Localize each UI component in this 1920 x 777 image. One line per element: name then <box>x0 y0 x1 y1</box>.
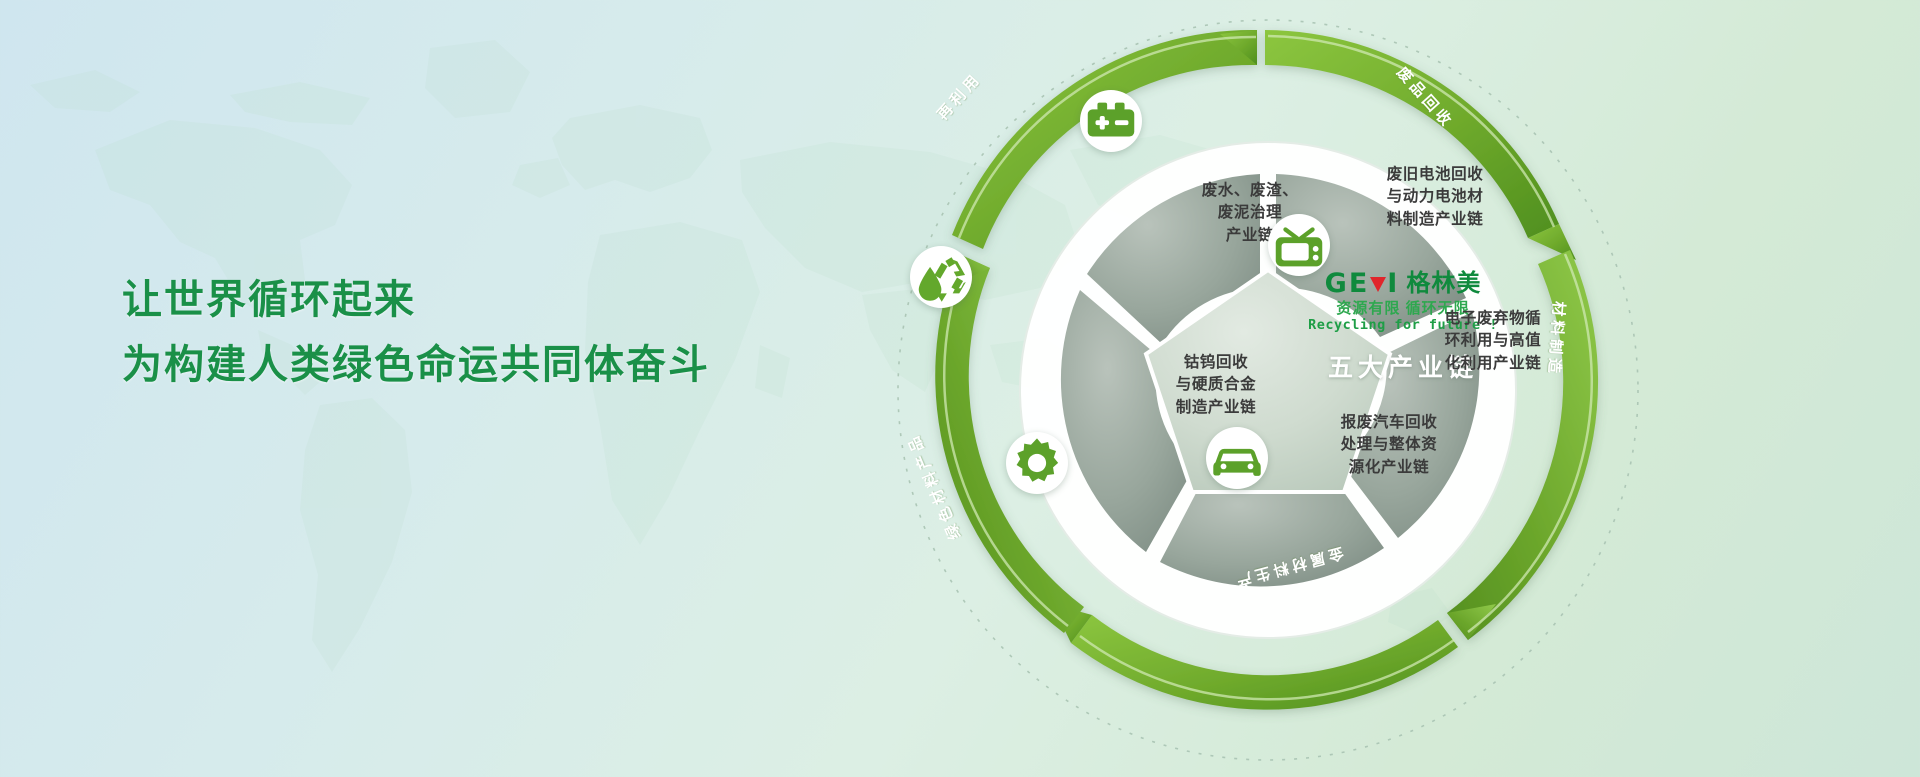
segment-label-cobalt-tungsten: 钴钨回收 与硬质合金 制造产业链 <box>1126 352 1306 419</box>
segment-line: 制造产业链 <box>1126 397 1306 419</box>
segment-line: 源化产业链 <box>1294 457 1484 479</box>
segment-line: 与动力电池材 <box>1340 186 1530 208</box>
hero-headline: 让世界循环起来 为构建人类绿色命运共同体奋斗 <box>122 268 902 398</box>
headline-line-2: 为构建人类绿色命运共同体奋斗 <box>122 333 902 398</box>
segment-line: 料制造产业链 <box>1340 209 1530 231</box>
bubble-television[interactable] <box>1268 214 1330 276</box>
gem-chinese-name: 格林美 <box>1406 272 1481 296</box>
gem-letters-text: GE <box>1325 270 1370 297</box>
red-triangle-icon <box>1370 277 1386 292</box>
segment-label-battery: 废旧电池回收 与动力电池材 料制造产业链 <box>1340 164 1530 231</box>
recycle-drop-icon <box>910 246 972 308</box>
bubble-car[interactable] <box>1206 427 1268 489</box>
segment-line: 报废汽车回收 <box>1294 412 1484 434</box>
bubble-gear[interactable] <box>1006 432 1068 494</box>
bubble-recycle-drop[interactable] <box>910 246 972 308</box>
battery-icon <box>1080 90 1142 152</box>
bubble-battery[interactable] <box>1080 90 1142 152</box>
gem-letters: GE I <box>1325 270 1400 297</box>
gem-letter-tail: I <box>1387 270 1399 297</box>
television-icon <box>1268 214 1330 276</box>
headline-line-1: 让世界循环起来 <box>122 268 902 333</box>
segment-line: 废水、废渣、 <box>1160 180 1340 202</box>
five-industry-chains-infographic: GE I 格林美 资源有限 循环无限 Recycling for future … <box>828 0 1708 777</box>
segment-line: 废旧电池回收 <box>1340 164 1530 186</box>
segment-line: 钴钨回收 <box>1126 352 1306 374</box>
car-icon <box>1206 427 1268 489</box>
segment-line: 处理与整体资 <box>1294 434 1484 456</box>
gear-icon <box>1006 432 1068 494</box>
segment-line: 与硬质合金 <box>1126 374 1306 396</box>
segment-label-scrap-car: 报废汽车回收 处理与整体资 源化产业链 <box>1294 412 1484 479</box>
